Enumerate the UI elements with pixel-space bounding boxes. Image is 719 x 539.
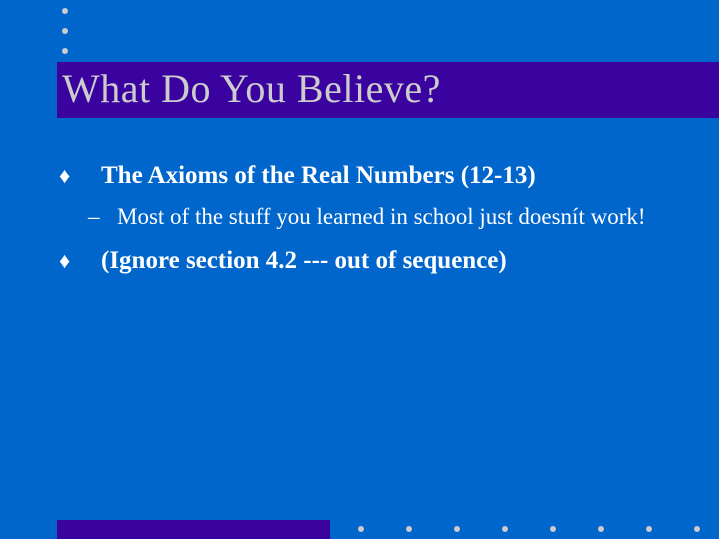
bullet-item-level1: ♦ (Ignore section 4.2 --- out of sequenc… (57, 243, 697, 279)
decor-dot-footer-4 (502, 526, 508, 532)
bullet-item-level1: ♦ The Axioms of the Real Numbers (12-13) (57, 158, 697, 194)
decor-dot-top-3 (62, 48, 68, 54)
footer-banner (57, 520, 330, 539)
slide-canvas: What Do You Believe? ♦ The Axioms of the… (0, 0, 719, 539)
decor-dot-footer-2 (406, 526, 412, 532)
decor-dot-footer-5 (550, 526, 556, 532)
bullet-text: Most of the stuff you learned in school … (117, 204, 646, 229)
bullet-item-level2: – Most of the stuff you learned in schoo… (57, 200, 677, 233)
decor-dot-footer-1 (358, 526, 364, 532)
diamond-bullet-icon: ♦ (59, 158, 70, 194)
decor-dot-footer-3 (454, 526, 460, 532)
bullet-text: (Ignore section 4.2 --- out of sequence) (101, 247, 507, 274)
bullet-text: The Axioms of the Real Numbers (12-13) (101, 162, 536, 189)
slide-title: What Do You Believe? (62, 60, 712, 118)
decor-dot-footer-7 (646, 526, 652, 532)
slide-body: ♦ The Axioms of the Real Numbers (12-13)… (57, 158, 697, 279)
decor-dot-footer-6 (598, 526, 604, 532)
diamond-bullet-icon: ♦ (59, 243, 70, 279)
decor-dot-top-2 (62, 28, 68, 34)
decor-dot-footer-8 (694, 526, 700, 532)
dash-bullet-icon: – (88, 200, 100, 233)
decor-dot-top-1 (62, 8, 68, 14)
